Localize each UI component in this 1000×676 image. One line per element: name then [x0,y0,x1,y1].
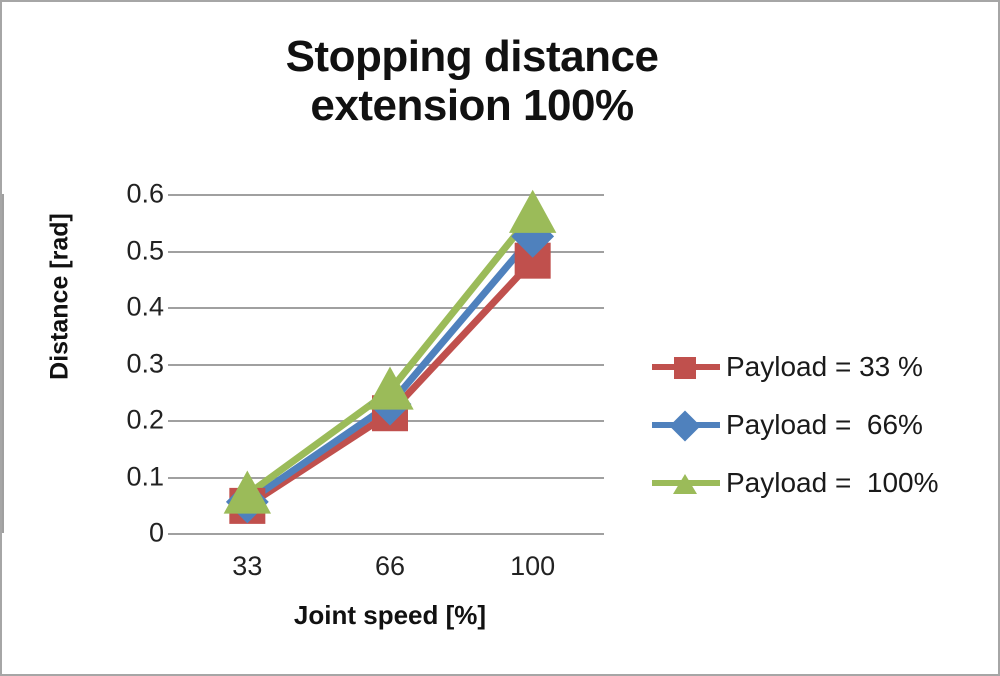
chart-title: Stopping distance extension 100% [122,32,822,131]
legend-key-triangle-icon [652,468,720,498]
x-axis-tick-label: 100 [510,551,555,582]
legend-item-label: Payload = 66% [726,409,923,441]
y-axis-tick-mark [168,477,176,479]
y-axis-tick-mark [168,251,176,253]
y-axis-tick-mark [168,364,176,366]
gridline [176,477,604,479]
legend-item[interactable]: Payload = 33 % [652,338,992,396]
y-axis-tick-mark [168,533,176,535]
y-axis-title: Distance [rad] [46,187,75,407]
x-axis-title: Joint speed [%] [176,600,604,631]
chart-title-line-2: extension 100% [122,81,822,130]
y-axis-tick-label: 0.1 [94,461,164,492]
plot-area [176,194,604,533]
x-axis-tick-label: 66 [375,551,405,582]
y-axis-tick-label: 0.6 [94,179,164,210]
y-axis-tick-label: 0.5 [94,235,164,266]
legend-item-label: Payload = 33 % [726,351,923,383]
legend-item-label: Payload = 100% [726,467,939,499]
legend-marker-square-icon [674,357,696,379]
legend-item[interactable]: Payload = 66% [652,396,992,454]
legend-item[interactable]: Payload = 100% [652,454,992,512]
y-axis-tick-label: 0.2 [94,405,164,436]
gridline [176,364,604,366]
gridline [176,307,604,309]
gridline [176,194,604,196]
y-axis-tick-label: 0.3 [94,348,164,379]
legend-key-diamond-icon [652,410,720,440]
x-axis-tick-label: 33 [232,551,262,582]
y-axis-line [2,194,4,533]
y-axis-tick-mark [168,194,176,196]
chart-title-line-1: Stopping distance [122,32,822,81]
y-axis-tick-labels: 0.60.50.40.30.20.10 [92,2,164,676]
legend-marker-triangle-icon [673,474,697,494]
y-axis-tick-mark [168,307,176,309]
y-axis-tick-mark [168,420,176,422]
legend-key-square-icon [652,352,720,382]
chart-legend: Payload = 33 %Payload = 66%Payload = 100… [652,338,992,512]
chart-figure: Stopping distance extension 100% 0.60.50… [0,0,1000,676]
gridline [176,420,604,422]
y-axis-tick-label: 0.4 [94,292,164,323]
gridline [176,251,604,253]
y-axis-tick-label: 0 [94,518,164,549]
x-axis-line [176,533,604,535]
legend-marker-diamond-icon [669,410,700,441]
